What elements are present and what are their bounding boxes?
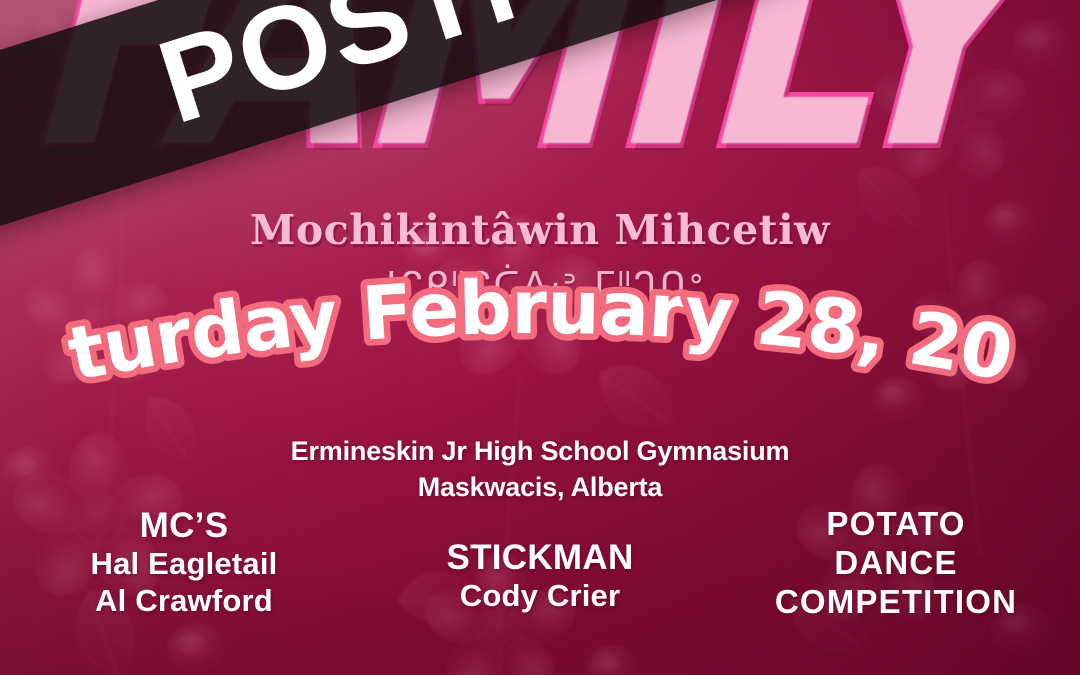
- mc-heading: MC’S: [34, 505, 334, 546]
- event-poster: FAMILY Mochikintâwin Mihcetiw ᒍᒋᑭᐦᒋᑖᐃᐧᐣ …: [0, 0, 1080, 675]
- poster-subtitle: Mochikintâwin Mihcetiw: [0, 206, 1080, 254]
- stickman-column: STICKMAN Cody Crier: [390, 505, 690, 615]
- stickman-heading: STICKMAN: [390, 537, 690, 578]
- potato-line-3: COMPETITION: [746, 583, 1046, 622]
- potato-line-2: DANCE: [746, 544, 1046, 583]
- stickman-name: Cody Crier: [390, 578, 690, 615]
- venue-name: Ermineskin Jr High School Gymnasium: [0, 434, 1080, 470]
- venue-location: Maskwacis, Alberta: [0, 470, 1080, 506]
- mc-name-1: Hal Eagletail: [34, 546, 334, 583]
- credits-columns: MC’S Hal Eagletail Al Crawford STICKMAN …: [0, 505, 1080, 622]
- mc-column: MC’S Hal Eagletail Al Crawford: [34, 505, 334, 619]
- mc-name-2: Al Crawford: [34, 583, 334, 620]
- potato-dance-column: POTATO DANCE COMPETITION: [746, 505, 1046, 622]
- potato-line-1: POTATO: [746, 505, 1046, 544]
- poster-subtitle-syllabics: ᒍᒋᑭᐦᒋᑖᐃᐧᐣ ᒥᐦᒉᑎᐤ: [0, 266, 1080, 307]
- venue-block: Ermineskin Jr High School Gymnasium Mask…: [0, 434, 1080, 506]
